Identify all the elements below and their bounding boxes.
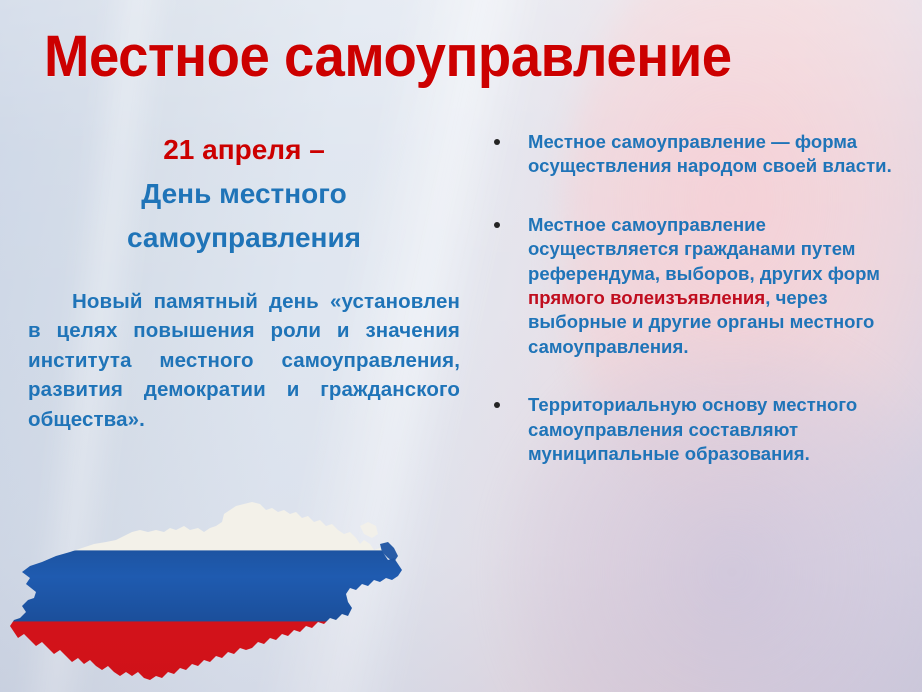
list-item: Местное самоуправление осуществляется гр… bbox=[486, 213, 896, 359]
bullet-dot-icon bbox=[494, 139, 500, 145]
slide-canvas: Местное самоуправление 21 апреля – День … bbox=[0, 0, 922, 692]
left-paragraph: Новый памятный день «установлен в целях … bbox=[28, 287, 460, 435]
bullet-dot-icon bbox=[494, 402, 500, 408]
slide-content: Местное самоуправление 21 апреля – День … bbox=[0, 0, 922, 692]
right-column-bullet-list: Местное самоуправление — форма осуществл… bbox=[486, 130, 896, 466]
date-heading: 21 апреля – bbox=[28, 128, 460, 172]
text-run: Территориальную основу местного самоупра… bbox=[528, 394, 857, 464]
holiday-heading-line-1: День местного bbox=[28, 172, 460, 216]
text-run: Местное самоуправление — форма осуществл… bbox=[528, 131, 892, 176]
list-item-text: Территориальную основу местного самоупра… bbox=[528, 394, 857, 464]
text-run: Местное самоуправление осуществляется гр… bbox=[528, 214, 880, 284]
bullet-dot-icon bbox=[494, 222, 500, 228]
left-column: 21 апреля – День местного самоуправления… bbox=[28, 128, 460, 455]
holiday-heading-line-2: самоуправления bbox=[28, 216, 460, 260]
list-item-text: Местное самоуправление — форма осуществл… bbox=[528, 131, 892, 176]
highlighted-phrase: прямого волеизъявления bbox=[528, 287, 765, 308]
russia-map-flag-image bbox=[8, 500, 418, 692]
list-item: Местное самоуправление — форма осуществл… bbox=[486, 130, 896, 179]
slide-title: Местное самоуправление bbox=[44, 28, 834, 86]
list-item-text: Местное самоуправление осуществляется гр… bbox=[528, 214, 880, 357]
list-item: Территориальную основу местного самоупра… bbox=[486, 393, 896, 466]
